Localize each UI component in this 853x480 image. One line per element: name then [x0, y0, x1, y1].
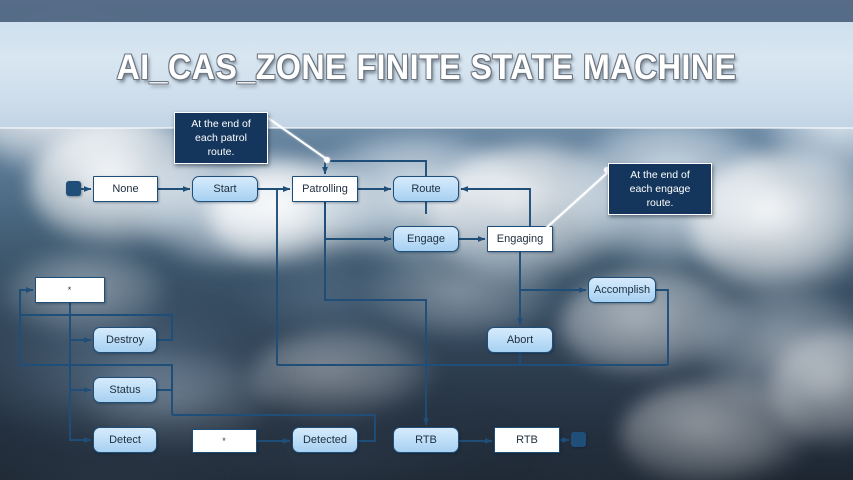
node-rtb-state[interactable]: RTB — [494, 427, 560, 453]
patrol-callout: At the end of each patrol route. — [174, 112, 268, 164]
node-detected[interactable]: Detected — [292, 427, 358, 453]
node-rtb-action[interactable]: RTB — [393, 427, 459, 453]
node-wildcard-top[interactable]: * — [35, 277, 105, 303]
node-destroy[interactable]: Destroy — [93, 327, 157, 353]
node-none[interactable]: None — [93, 176, 158, 202]
start-terminator[interactable] — [66, 181, 81, 196]
node-label: Accomplish — [594, 284, 650, 296]
node-start[interactable]: Start — [192, 176, 258, 202]
node-label: Destroy — [106, 334, 144, 346]
page-title: AI_CAS_ZONE FINITE STATE MACHINE — [34, 48, 819, 88]
callout-line-2: each patrol route. — [182, 131, 260, 159]
node-label: * — [68, 285, 73, 295]
node-label: Detected — [303, 434, 347, 446]
node-label: Abort — [507, 334, 533, 346]
node-label: Route — [411, 183, 440, 195]
end-terminator[interactable] — [571, 432, 586, 447]
node-engage[interactable]: Engage — [393, 226, 459, 252]
node-detect[interactable]: Detect — [93, 427, 157, 453]
node-label: Engaging — [497, 233, 544, 245]
node-label: Detect — [109, 434, 141, 446]
node-label: Status — [109, 384, 140, 396]
callout-line-1: At the end of — [616, 168, 704, 182]
node-label: None — [112, 183, 138, 195]
callout-line-2: each engage route. — [616, 182, 704, 210]
patrol-callout-anchor — [324, 157, 330, 163]
node-label: Patrolling — [302, 183, 348, 195]
header-divider — [0, 127, 853, 129]
cloud-shadow — [230, 240, 420, 350]
callout-line-1: At the end of — [182, 117, 260, 131]
node-route[interactable]: Route — [393, 176, 459, 202]
node-label: * — [222, 436, 227, 446]
engage-callout: At the end of each engage route. — [608, 163, 712, 215]
node-accomplish[interactable]: Accomplish — [588, 277, 656, 303]
node-wildcard-bottom[interactable]: * — [192, 429, 257, 453]
node-abort[interactable]: Abort — [487, 327, 553, 353]
node-engaging[interactable]: Engaging — [487, 226, 553, 252]
top-accent-bar — [0, 0, 853, 22]
slide-canvas: AI_CAS_ZONE FINITE STATE MACHINE — [0, 0, 853, 480]
node-label: Start — [213, 183, 236, 195]
node-label: Engage — [407, 233, 445, 245]
node-label: RTB — [516, 434, 538, 446]
node-label: RTB — [415, 434, 437, 446]
node-status[interactable]: Status — [93, 377, 157, 403]
node-patrolling[interactable]: Patrolling — [292, 176, 358, 202]
